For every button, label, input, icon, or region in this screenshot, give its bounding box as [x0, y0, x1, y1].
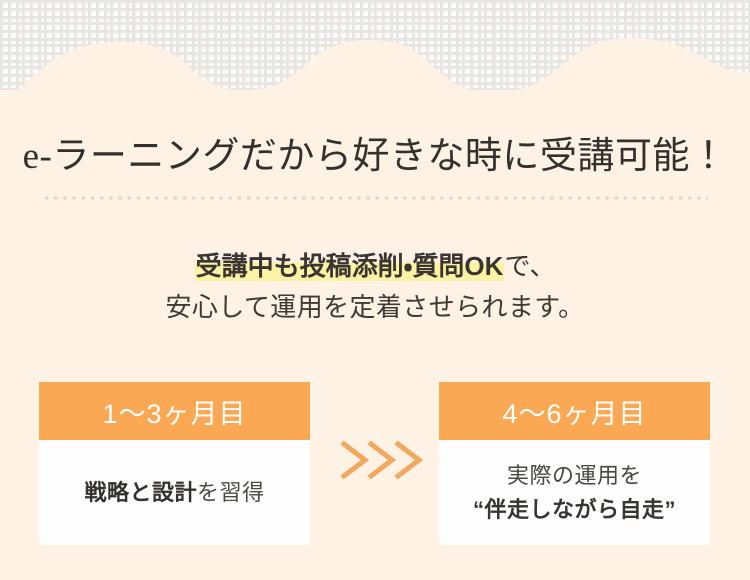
timeline-card-phase-1: 1〜3ヶ月目 戦略と設計を習得 [39, 382, 310, 545]
dotted-underline-divider [42, 196, 708, 200]
card-text-phase-2-line-2: “伴走しながら自走” [473, 494, 676, 526]
subcopy-block: 受講中も投稿添削・質問OKで、 安心して運用を定着させられます。 [0, 246, 750, 328]
promo-banner: e-ラーニングだから好きな時に受講可能！ 受講中も投稿添削・質問OKで、 安心し… [0, 0, 750, 580]
chevrons-right-icon [338, 436, 434, 484]
highlighted-text: 受講中も投稿添削・質問OK [195, 251, 505, 281]
page-title: e-ラーニングだから好きな時に受講可能！ [0, 136, 750, 179]
subcopy-line-2: 安心して運用を定着させられます。 [0, 287, 750, 328]
card-body-phase-1: 戦略と設計を習得 [39, 440, 310, 545]
card-text-phase-2-line-1: 実際の運用を [507, 460, 642, 492]
headline-block: e-ラーニングだから好きな時に受講可能！ [0, 136, 750, 179]
card-header-phase-1: 1〜3ヶ月目 [39, 382, 310, 440]
card-text-phase-1-thin: を習得 [197, 480, 265, 505]
card-text-phase-1-bold: 戦略と設計 [84, 480, 197, 505]
subcopy-line-1: 受講中も投稿添削・質問OKで、 [0, 246, 750, 287]
card-text-phase-1: 戦略と設計を習得 [84, 477, 264, 509]
card-header-phase-2: 4〜6ヶ月目 [439, 382, 710, 440]
subcopy-line-1-tail: で、 [504, 251, 555, 281]
card-body-phase-2: 実際の運用を “伴走しながら自走” [439, 440, 710, 545]
timeline-card-phase-2: 4〜6ヶ月目 実際の運用を “伴走しながら自走” [439, 382, 710, 545]
